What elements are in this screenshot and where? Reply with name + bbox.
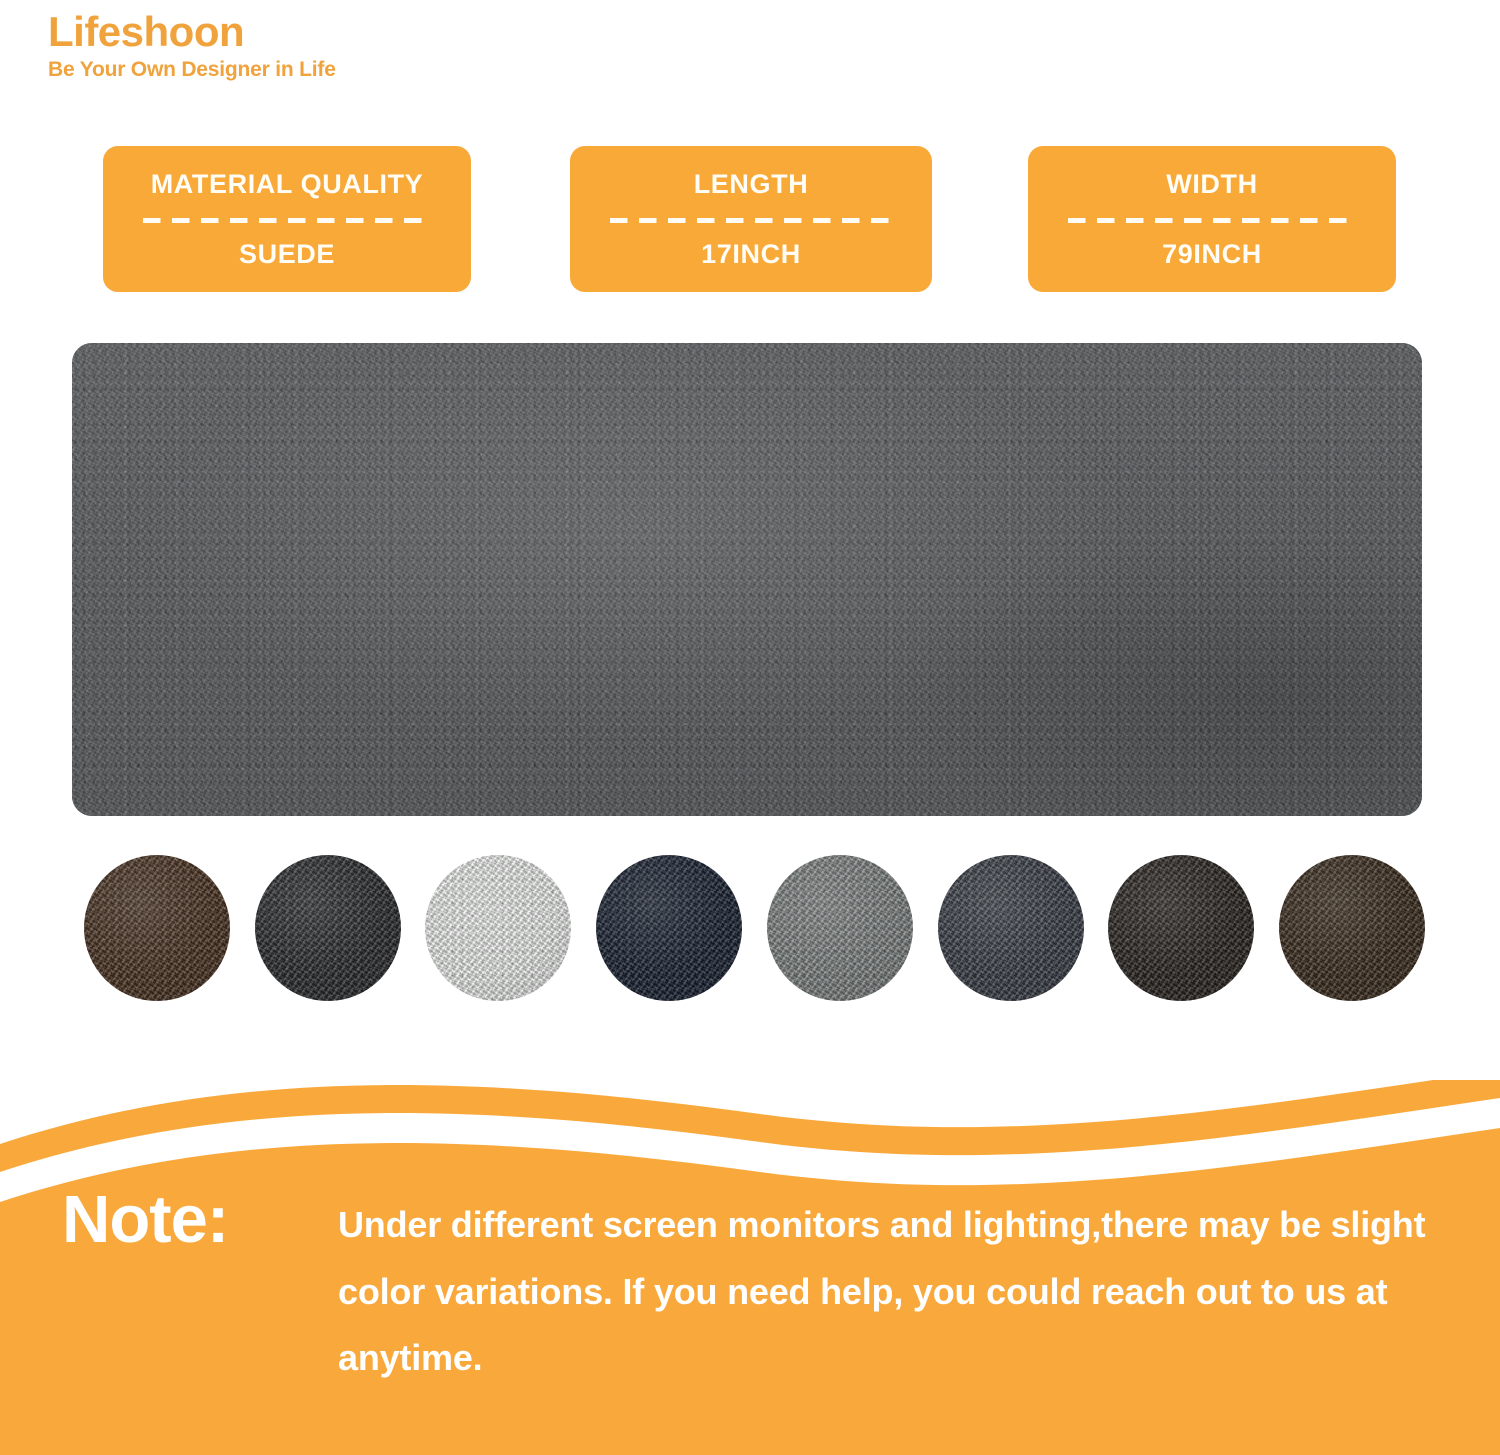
color-swatch-medium-gray[interactable]: [767, 855, 913, 1001]
dashed-divider-icon: [610, 218, 892, 223]
spec-badge-row: MATERIAL QUALITY SUEDE LENGTH 17INCH WID…: [103, 146, 1403, 292]
spec-label: LENGTH: [694, 171, 809, 198]
dashed-divider-icon: [143, 218, 430, 223]
swatch-shading: [1279, 855, 1425, 1001]
spec-value: 17INCH: [701, 241, 801, 268]
brand-tagline: Be Your Own Designer in Life: [48, 57, 336, 82]
note-text: Under different screen monitors and ligh…: [338, 1192, 1448, 1392]
spec-value: 79INCH: [1162, 241, 1262, 268]
dashed-divider-icon: [1068, 218, 1355, 223]
spec-label: MATERIAL QUALITY: [151, 171, 424, 198]
note-banner: Note: Under different screen monitors an…: [0, 1080, 1500, 1455]
spec-value: SUEDE: [239, 241, 335, 268]
spec-badge-material-quality: MATERIAL QUALITY SUEDE: [103, 146, 471, 292]
spec-label: WIDTH: [1166, 171, 1257, 198]
color-swatch-black-brown[interactable]: [1108, 855, 1254, 1001]
color-swatch-row: [84, 855, 1425, 1005]
note-heading: Note:: [62, 1186, 228, 1253]
brand-name: Lifeshoon: [48, 8, 336, 55]
color-swatch-coffee-brown[interactable]: [1279, 855, 1425, 1001]
swatch-shading: [1108, 855, 1254, 1001]
spec-badge-length: LENGTH 17INCH: [570, 146, 932, 292]
spec-badge-width: WIDTH 79INCH: [1028, 146, 1396, 292]
color-swatch-ivory-white[interactable]: [425, 855, 571, 1001]
color-swatch-charcoal-black[interactable]: [255, 855, 401, 1001]
swatch-shading: [596, 855, 742, 1001]
color-swatch-dark-brown[interactable]: [84, 855, 230, 1001]
swatch-shading: [767, 855, 913, 1001]
brand-header: Lifeshoon Be Your Own Designer in Life: [48, 8, 336, 82]
swatch-shading: [255, 855, 401, 1001]
product-photo: [72, 343, 1422, 816]
color-swatch-navy-blue[interactable]: [596, 855, 742, 1001]
swatch-shading: [425, 855, 571, 1001]
swatch-shading: [84, 855, 230, 1001]
swatch-shading: [938, 855, 1084, 1001]
color-swatch-slate-gray[interactable]: [938, 855, 1084, 1001]
product-photo-sheen: [72, 343, 1422, 816]
